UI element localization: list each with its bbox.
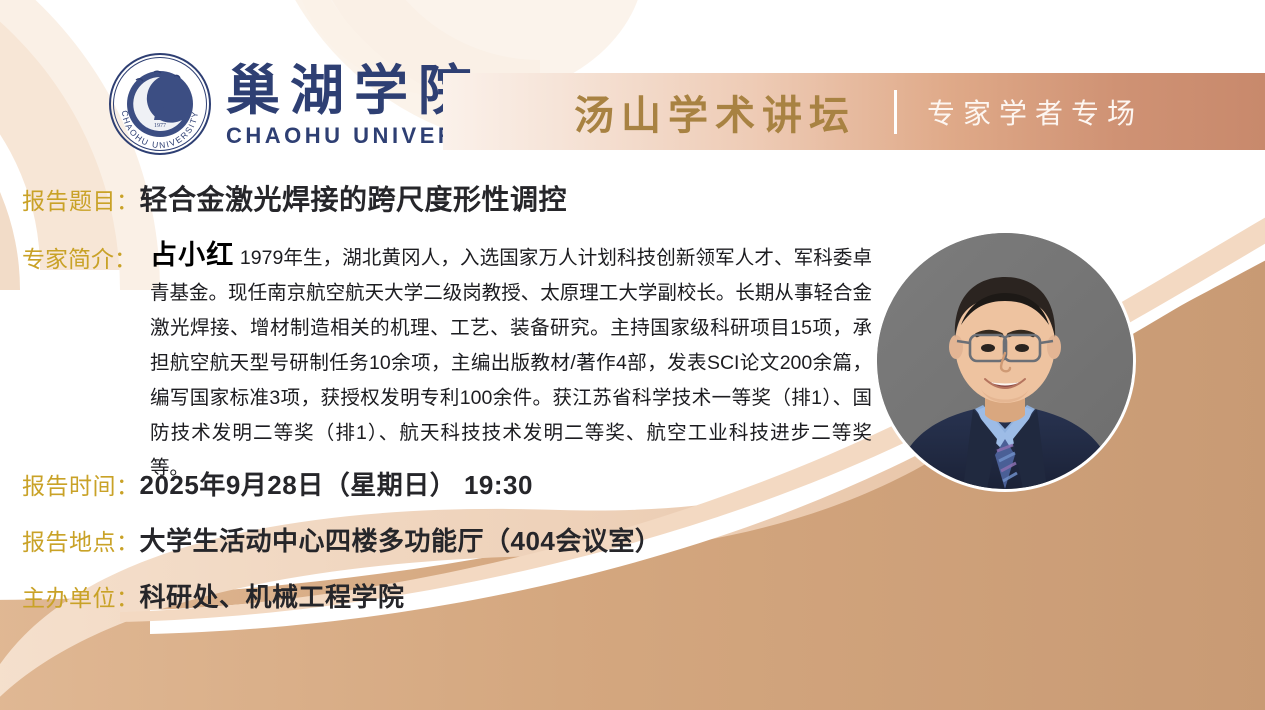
lecture-organizer-row: 主办单位： 科研处、机械工程学院 [22, 577, 405, 614]
banner-subtitle: 专家学者专场 [927, 92, 1143, 132]
lecture-place-value: 大学生活动中心四楼多功能厅（404会议室） [140, 521, 662, 558]
lecture-place-row: 报告地点： 大学生活动中心四楼多功能厅（404会议室） [22, 521, 661, 558]
lecture-time-value: 2025年9月28日（星期日） 19:30 [140, 465, 533, 502]
poster-header: 1977 CHAOHU UNIVERSITY 巢湖学院 CHAOHU UNIVE… [0, 0, 1265, 160]
lecture-organizer-label: 主办单位： [22, 579, 140, 613]
svg-text:1977: 1977 [154, 123, 166, 129]
banner-title: 汤山学术讲坛 [574, 83, 856, 141]
speaker-bio-label: 专家简介： [22, 240, 137, 274]
speaker-name: 占小红 [150, 240, 234, 270]
banner-divider [894, 90, 897, 134]
speaker-bio-text: 1979年生，湖北黄冈人，入选国家万人计划科技创新领军人才、军科委卓青基金。现任… [150, 247, 872, 479]
lecture-time-row: 报告时间： 2025年9月28日（星期日） 19:30 [22, 465, 533, 502]
speaker-bio-row: 专家简介： 占小红 1979年生，湖北黄冈人，入选国家万人计划科技创新领军人才、… [22, 238, 872, 486]
speaker-portrait-illustration [877, 233, 1133, 489]
lecture-series-banner: 汤山学术讲坛 专家学者专场 [443, 73, 1265, 150]
speaker-portrait-photo [877, 233, 1133, 489]
lecture-organizer-value: 科研处、机械工程学院 [140, 577, 405, 614]
lecture-title-value: 轻合金激光焊接的跨尺度形性调控 [140, 178, 568, 218]
poster-root: 0 [0, 0, 1265, 710]
lecture-place-label: 报告地点： [22, 523, 140, 557]
lecture-title-row: 报告题目： 轻合金激光焊接的跨尺度形性调控 [22, 178, 567, 218]
speaker-bio-body: 占小红 1979年生，湖北黄冈人，入选国家万人计划科技创新领军人才、军科委卓青基… [150, 238, 872, 486]
lecture-title-label: 报告题目： [22, 182, 140, 216]
lecture-time-label: 报告时间： [22, 467, 140, 501]
university-seal-icon: 1977 CHAOHU UNIVERSITY [108, 52, 212, 156]
